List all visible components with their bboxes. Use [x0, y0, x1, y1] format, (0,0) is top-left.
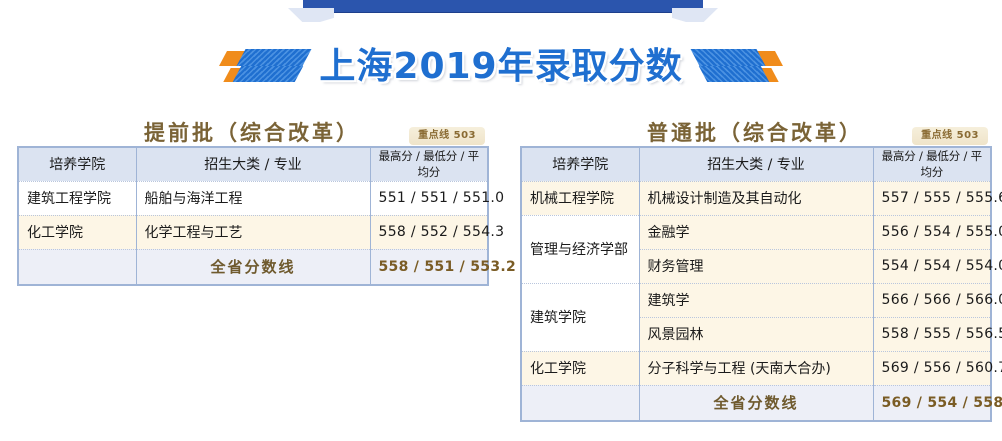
table-row: 建筑工程学院 船舶与海洋工程 551 / 551 / 551.0	[18, 181, 488, 215]
top-banner-blue-bar	[303, 0, 703, 12]
key-line-badge-left: 重点线 503	[409, 127, 485, 145]
cell-major: 财务管理	[639, 249, 873, 283]
table-row: 化工学院 化学工程与工艺 558 / 552 / 554.3	[18, 215, 488, 249]
cell-total-spacer	[18, 249, 136, 285]
cell-college: 化工学院	[521, 351, 639, 385]
table-row: 建筑学院 建筑学 566 / 566 / 566.0	[521, 283, 991, 317]
column-header-major: 招生大类 / 专业	[639, 147, 873, 181]
cell-total-label: 全省分数线	[136, 249, 370, 285]
cell-total-scores: 569 / 554 / 558	[873, 385, 991, 421]
table-header-row: 培养学院 招生大类 / 专业 最高分 / 最低分 / 平均分	[18, 147, 488, 181]
cell-major: 船舶与海洋工程	[136, 181, 370, 215]
cell-scores: 566 / 566 / 566.0	[873, 283, 991, 317]
banner-fold-left-icon	[288, 8, 334, 22]
cell-scores: 569 / 556 / 560.7	[873, 351, 991, 385]
top-banner-strip	[0, 0, 1002, 22]
column-header-major: 招生大类 / 专业	[136, 147, 370, 181]
ribbon-decoration-right-icon	[691, 47, 779, 87]
cell-college: 机械工程学院	[521, 181, 639, 215]
score-table-left: 培养学院 招生大类 / 专业 最高分 / 最低分 / 平均分 建筑工程学院 船舶…	[17, 146, 489, 286]
panel-header-right: 普通批（综合改革） 重点线 503	[520, 112, 990, 146]
banner-fold-right-icon	[672, 8, 718, 22]
table-body-right: 机械工程学院 机械设计制造及其自动化 557 / 555 / 555.6 管理与…	[521, 181, 991, 421]
panel-header-left: 提前批（综合改革） 重点线 503	[17, 112, 487, 146]
column-header-scores: 最高分 / 最低分 / 平均分	[873, 147, 991, 181]
cell-scores: 557 / 555 / 555.6	[873, 181, 991, 215]
cell-scores: 554 / 554 / 554.0	[873, 249, 991, 283]
key-line-badge-right: 重点线 503	[912, 127, 988, 145]
cell-scores: 551 / 551 / 551.0	[370, 181, 488, 215]
panel-early-batch: 提前批（综合改革） 重点线 503 培养学院 招生大类 / 专业 最高分 / 最…	[17, 112, 487, 286]
panel-title-left: 提前批（综合改革）	[144, 123, 360, 144]
cell-major: 风景园林	[639, 317, 873, 351]
column-header-college: 培养学院	[18, 147, 136, 181]
cell-total-spacer	[521, 385, 639, 421]
cell-major: 化学工程与工艺	[136, 215, 370, 249]
cell-total-label: 全省分数线	[639, 385, 873, 421]
cell-total-scores: 558 / 551 / 553.2	[370, 249, 488, 285]
cell-college: 管理与经济学部	[521, 215, 639, 283]
column-header-college: 培养学院	[521, 147, 639, 181]
table-row: 机械工程学院 机械设计制造及其自动化 557 / 555 / 555.6	[521, 181, 991, 215]
table-row: 化工学院 分子科学与工程 (天南大合办) 569 / 556 / 560.7	[521, 351, 991, 385]
panel-regular-batch: 普通批（综合改革） 重点线 503 培养学院 招生大类 / 专业 最高分 / 最…	[520, 112, 990, 422]
score-table-right: 培养学院 招生大类 / 专业 最高分 / 最低分 / 平均分 机械工程学院 机械…	[520, 146, 992, 422]
cell-college: 建筑学院	[521, 283, 639, 351]
panel-title-right: 普通批（综合改革）	[647, 123, 863, 144]
cell-major: 建筑学	[639, 283, 873, 317]
page-title: 上海2019年录取分数	[317, 49, 684, 85]
cell-college: 化工学院	[18, 215, 136, 249]
page-title-row: 上海2019年录取分数	[0, 38, 1002, 96]
cell-major: 金融学	[639, 215, 873, 249]
cell-scores: 558 / 552 / 554.3	[370, 215, 488, 249]
table-header-row: 培养学院 招生大类 / 专业 最高分 / 最低分 / 平均分	[521, 147, 991, 181]
cell-scores: 556 / 554 / 555.0	[873, 215, 991, 249]
cell-major: 机械设计制造及其自动化	[639, 181, 873, 215]
table-row: 管理与经济学部 金融学 556 / 554 / 555.0	[521, 215, 991, 249]
column-header-scores: 最高分 / 最低分 / 平均分	[370, 147, 488, 181]
cell-major: 分子科学与工程 (天南大合办)	[639, 351, 873, 385]
table-total-row: 全省分数线 569 / 554 / 558	[521, 385, 991, 421]
table-body-left: 建筑工程学院 船舶与海洋工程 551 / 551 / 551.0 化工学院 化学…	[18, 181, 488, 285]
cell-scores: 558 / 555 / 556.5	[873, 317, 991, 351]
cell-college: 建筑工程学院	[18, 181, 136, 215]
table-total-row: 全省分数线 558 / 551 / 553.2	[18, 249, 488, 285]
ribbon-decoration-left-icon	[223, 47, 311, 87]
